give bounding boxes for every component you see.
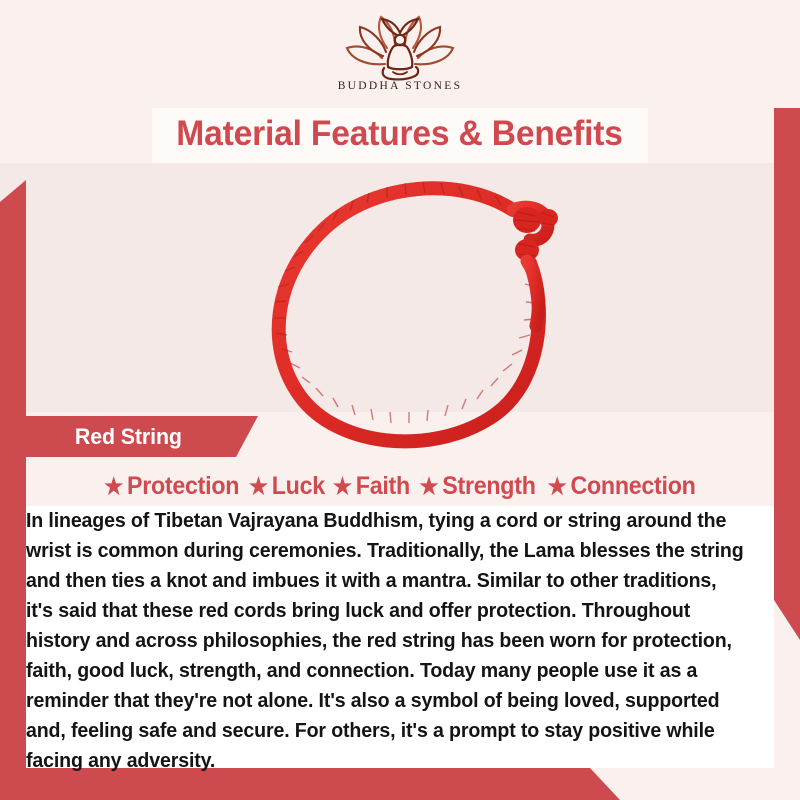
title-plate: Material Features & Benefits <box>152 104 648 163</box>
star-icon: ★ <box>104 475 123 498</box>
page-title: Material Features & Benefits <box>177 114 624 154</box>
description-text-wrap: In lineages of Tibetan Vajrayana Buddhis… <box>26 506 744 776</box>
star-icon: ★ <box>333 475 352 498</box>
star-icon: ★ <box>547 475 566 498</box>
benefit-item: ★ Strength <box>419 472 535 501</box>
benefit-label: Strength <box>442 472 535 501</box>
star-icon: ★ <box>249 475 268 498</box>
product-name-label: Red String <box>28 424 181 450</box>
benefit-item: ★ Luck <box>249 472 325 501</box>
star-icon: ★ <box>419 475 438 498</box>
benefit-item: ★ Faith <box>333 472 410 501</box>
brand-header: BUDDHA STONES <box>0 0 800 108</box>
benefit-label: Protection <box>127 472 239 501</box>
benefits-row: ★ Protection ★ Luck ★ Faith ★ Strength ★… <box>0 466 800 506</box>
benefit-item: ★ Protection <box>104 472 239 501</box>
lotus-meditation-icon <box>341 14 459 82</box>
product-image-bracelet <box>255 168 585 458</box>
product-name-ribbon: Red String <box>26 416 258 457</box>
benefit-label: Luck <box>272 472 325 501</box>
poster-root: BUDDHA STONES Material Features & Benefi… <box>0 0 800 800</box>
brand-name: BUDDHA STONES <box>338 80 463 92</box>
benefit-label: Connection <box>570 472 695 501</box>
benefit-item: ★ Connection <box>547 472 695 501</box>
benefit-label: Faith <box>356 472 410 501</box>
description-text: In lineages of Tibetan Vajrayana Buddhis… <box>26 506 744 776</box>
